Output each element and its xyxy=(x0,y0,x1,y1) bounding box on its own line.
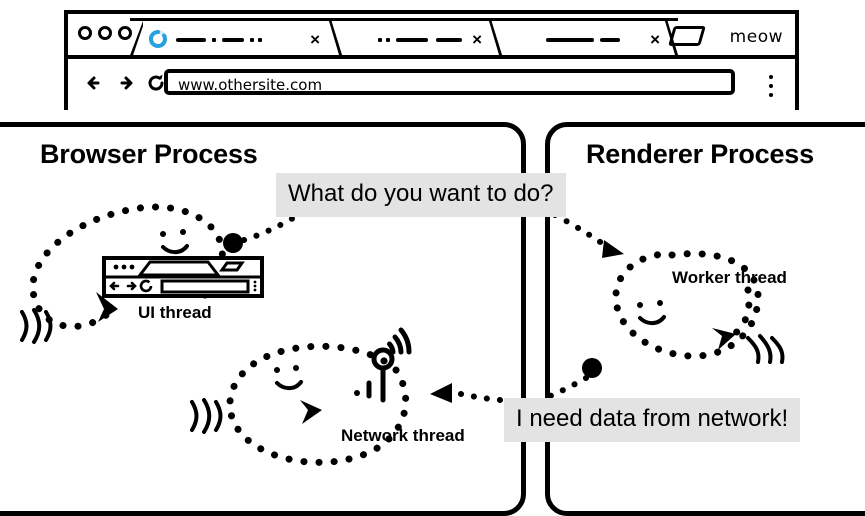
reload-icon[interactable] xyxy=(146,73,166,93)
message-bubble-need-data: I need data from network! xyxy=(504,398,800,442)
tab-title-scribble xyxy=(176,34,306,46)
window-controls[interactable] xyxy=(78,26,132,40)
tab-left-slant-icon xyxy=(129,21,143,58)
address-bar[interactable]: www.othersite.com xyxy=(164,69,735,95)
navigation-toolbar: www.othersite.com xyxy=(68,59,795,110)
ui-thread-label: UI thread xyxy=(138,303,212,323)
tab-title-scribble xyxy=(546,34,656,46)
tab-close-icon[interactable]: × xyxy=(650,31,660,48)
message-bubble-what-do-you-want: What do you want to do? xyxy=(276,173,566,217)
new-tab-icon[interactable] xyxy=(668,26,706,46)
tab-close-icon[interactable]: × xyxy=(472,31,482,48)
renderer-process-box xyxy=(545,122,865,516)
tab-right-slant-icon xyxy=(329,21,343,58)
tab-third[interactable]: × xyxy=(502,18,678,55)
brand-label: meow xyxy=(730,27,783,47)
kebab-menu-icon[interactable] xyxy=(769,75,773,102)
minimize-dot-icon[interactable] xyxy=(98,26,112,40)
tab-right-slant-icon xyxy=(489,21,503,58)
renderer-process-title: Renderer Process xyxy=(586,139,814,170)
worker-thread-label: Worker thread xyxy=(672,268,787,288)
tab-close-icon[interactable]: × xyxy=(310,31,320,48)
tab-strip: × × xyxy=(68,14,795,59)
diagram-canvas: × × xyxy=(0,0,865,504)
loading-spinner-icon xyxy=(148,29,168,49)
network-thread-label: Network thread xyxy=(341,426,465,446)
close-dot-icon[interactable] xyxy=(78,26,92,40)
forward-arrow-icon[interactable] xyxy=(116,73,136,93)
tab-second[interactable]: × xyxy=(342,18,502,55)
tab-list: × × xyxy=(130,14,709,55)
address-bar-text[interactable]: www.othersite.com xyxy=(178,76,322,94)
back-arrow-icon[interactable] xyxy=(84,73,104,93)
tab-active[interactable]: × xyxy=(130,18,342,55)
browser-process-title: Browser Process xyxy=(40,139,258,170)
browser-window: × × xyxy=(64,10,799,110)
